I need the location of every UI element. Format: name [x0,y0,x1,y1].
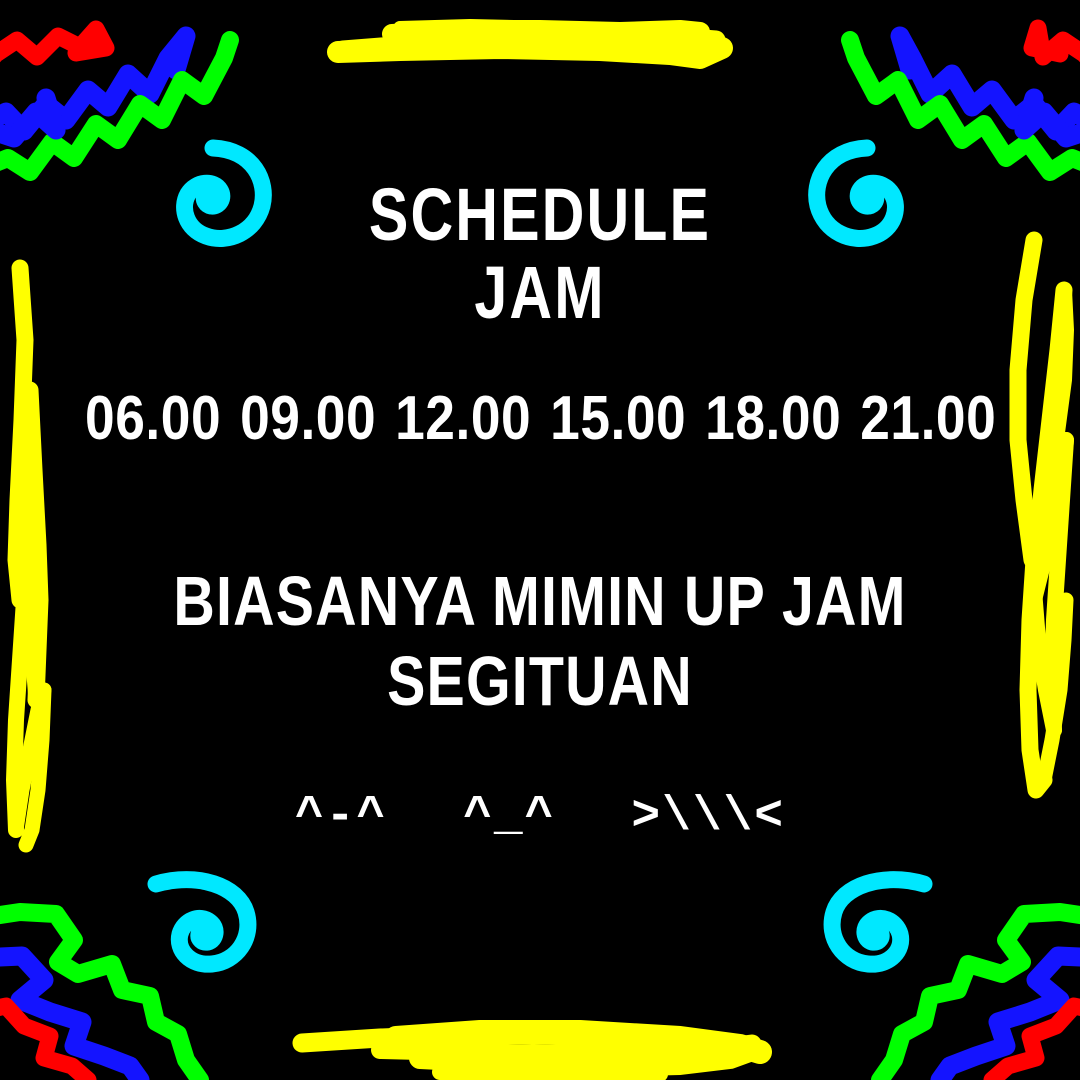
schedule-times-row: 06.0009.0012.0015.0018.0021.00 [76,388,1005,450]
schedule-time-1: 09.00 [240,388,376,450]
schedule-time-3: 15.00 [550,388,686,450]
schedule-time-0: 06.00 [85,388,221,450]
emoticon-2: >\\\< [631,793,785,841]
message-line-2: SEGITUAN [97,646,983,716]
page-title-line-1: SCHEDULE [108,178,972,252]
message-line-1: BIASANYA MIMIN UP JAM [97,566,983,636]
emoticon-0: ^-^ [295,793,387,841]
emoticon-row: ^-^^_^>\\\< [0,793,1080,841]
page-title-line-2: JAM [108,256,972,330]
schedule-time-4: 18.00 [705,388,841,450]
poster-content: SCHEDULE JAM 06.0009.0012.0015.0018.0021… [0,0,1080,1080]
poster-canvas: SCHEDULE JAM 06.0009.0012.0015.0018.0021… [0,0,1080,1080]
emoticon-1: ^_^ [463,793,555,841]
schedule-time-5: 21.00 [860,388,996,450]
schedule-time-2: 12.00 [395,388,531,450]
